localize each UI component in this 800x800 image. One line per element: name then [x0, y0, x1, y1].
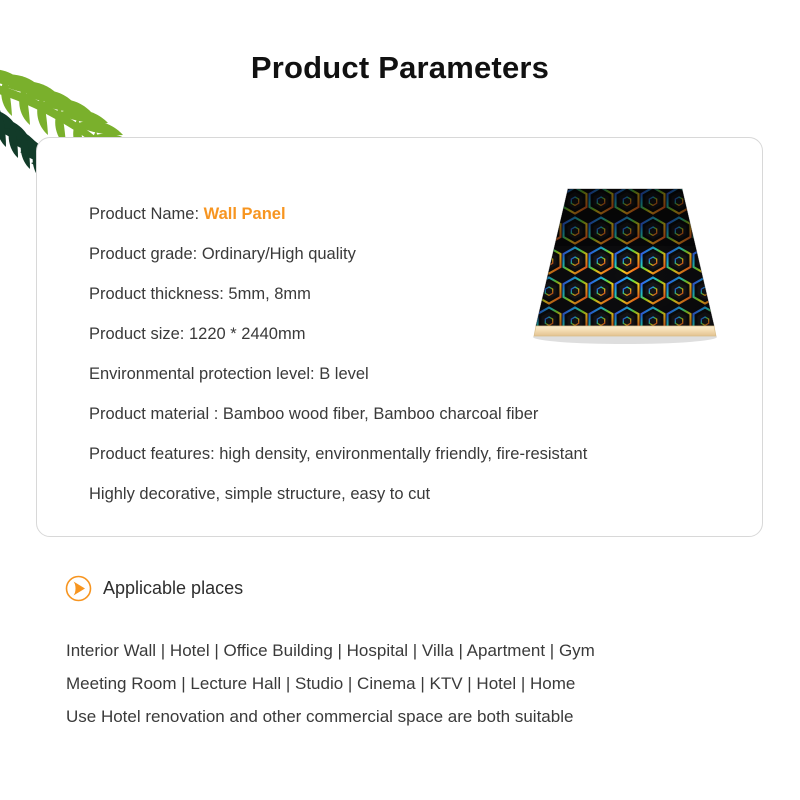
- spec-label: Product size:: [89, 325, 189, 343]
- spec-row-extra-features: Highly decorative, simple structure, eas…: [89, 474, 709, 514]
- spec-value: Ordinary/High quality: [202, 245, 356, 263]
- applicable-places-label: Applicable places: [103, 578, 243, 599]
- applicable-places-heading: Applicable places: [65, 575, 243, 602]
- spec-value: high density, environmentally friendly, …: [219, 445, 587, 463]
- spec-value: 1220 * 2440mm: [189, 325, 306, 343]
- spec-label: Product grade:: [89, 245, 202, 263]
- spec-value: B level: [319, 365, 369, 383]
- applicable-places-list: Interior Wall | Hotel | Office Building …: [66, 634, 766, 733]
- spec-label: Product thickness:: [89, 285, 228, 303]
- spec-row-product-material: Product material : Bamboo wood fiber, Ba…: [89, 394, 709, 434]
- spec-label: Environmental protection level:: [89, 365, 319, 383]
- product-panel-image: [492, 186, 742, 366]
- spec-row-product-features: Product features: high density, environm…: [89, 434, 709, 474]
- spec-value: Wall Panel: [204, 205, 286, 223]
- places-line: Interior Wall | Hotel | Office Building …: [66, 634, 766, 667]
- wall-panel-hexagon-icon: [492, 186, 742, 366]
- spec-value: Bamboo wood fiber, Bamboo charcoal fiber: [223, 405, 539, 423]
- spec-label: Product Name:: [89, 205, 204, 223]
- spec-label: Product features:: [89, 445, 219, 463]
- spec-value: 5mm, 8mm: [228, 285, 311, 303]
- places-line: Meeting Room | Lecture Hall | Studio | C…: [66, 667, 766, 700]
- spec-value: Highly decorative, simple structure, eas…: [89, 485, 430, 503]
- product-parameters-card: Product Name: Wall Panel Product grade: …: [36, 137, 763, 537]
- page-title: Product Parameters: [0, 50, 800, 86]
- places-line: Use Hotel renovation and other commercia…: [66, 700, 766, 733]
- arrow-right-circle-icon: [65, 575, 92, 602]
- spec-label: Product material :: [89, 405, 223, 423]
